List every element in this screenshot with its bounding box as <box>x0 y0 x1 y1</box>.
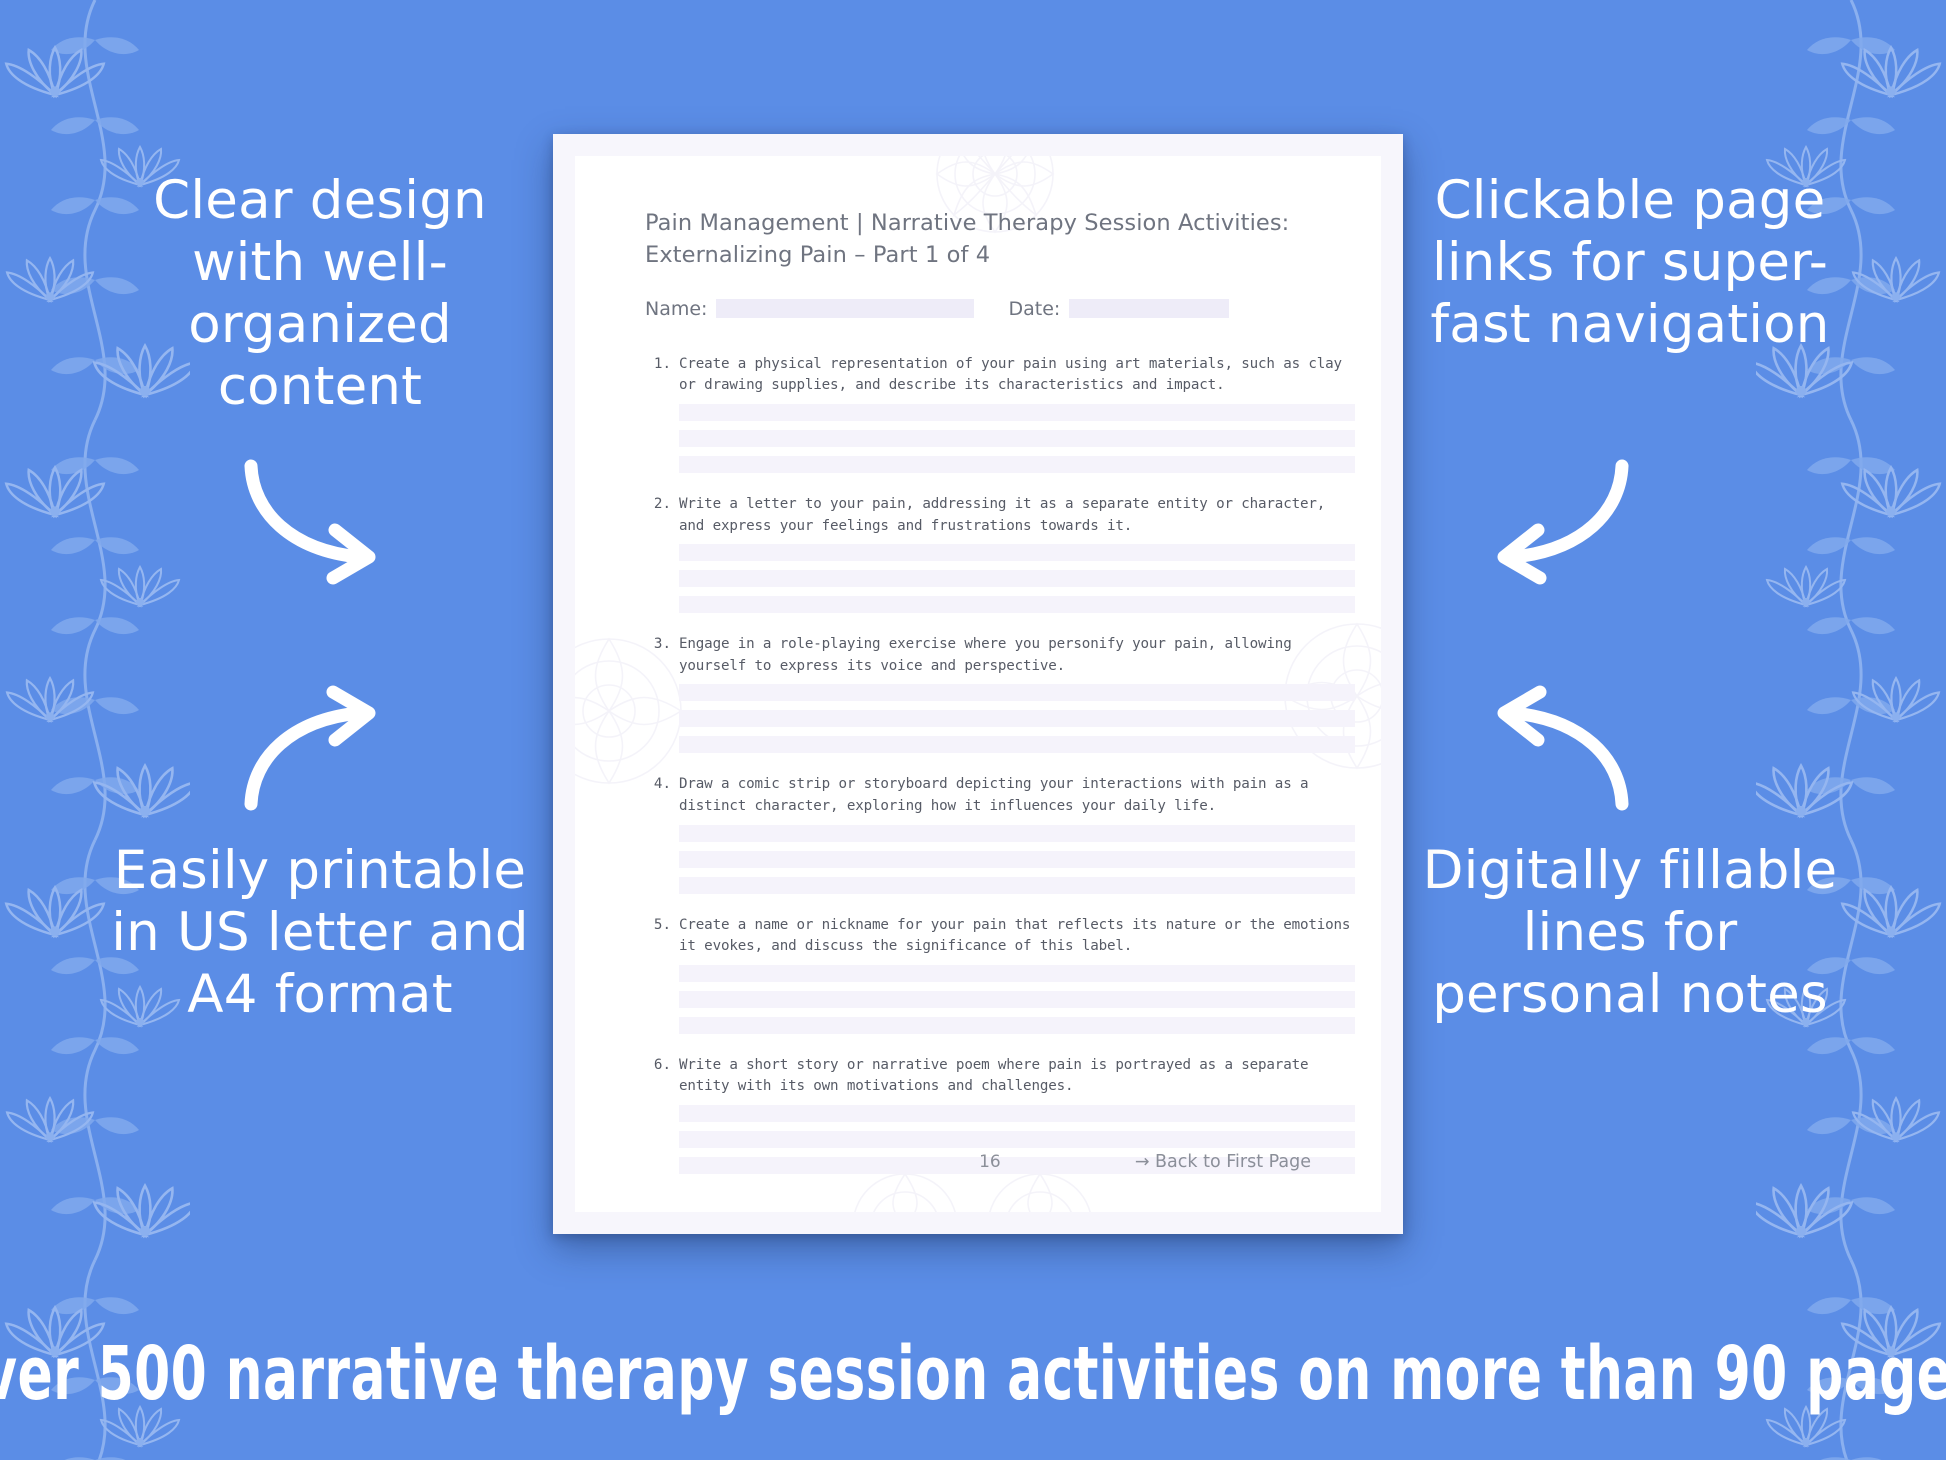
worksheet-content-area: Pain Management | Narrative Therapy Sess… <box>575 156 1381 1212</box>
promo-graphic: Clear design with well-organized content… <box>0 0 1946 1460</box>
answer-line[interactable] <box>679 456 1355 473</box>
page-number: 16 <box>645 1152 1135 1172</box>
activity-item: 4.Draw a comic strip or storyboard depic… <box>645 774 1355 902</box>
answer-line[interactable] <box>679 825 1355 842</box>
activity-body: Write a letter to your pain, addressing … <box>679 494 1355 622</box>
activity-body: Create a physical representation of your… <box>679 354 1355 482</box>
worksheet-footer: 16 → Back to First Page <box>645 1152 1311 1172</box>
banner-headline: Over 500 narrative therapy session activ… <box>0 1331 1946 1417</box>
worksheet-page: Pain Management | Narrative Therapy Sess… <box>553 134 1403 1234</box>
arrow-bottom-left-icon <box>243 690 403 810</box>
activity-answer-lines <box>679 965 1355 1034</box>
promo-text-clear-design: Clear design with well-organized content <box>110 170 530 418</box>
activity-item: 3.Engage in a role-playing exercise wher… <box>645 634 1355 762</box>
answer-line[interactable] <box>679 1131 1355 1148</box>
answer-line[interactable] <box>679 570 1355 587</box>
activity-item: 2.Write a letter to your pain, addressin… <box>645 494 1355 622</box>
activity-answer-lines <box>679 544 1355 613</box>
activity-text: Write a letter to your pain, addressing … <box>679 494 1355 537</box>
activity-number: 4. <box>645 774 679 902</box>
activity-text: Create a physical representation of your… <box>679 354 1355 397</box>
answer-line[interactable] <box>679 736 1355 753</box>
answer-line[interactable] <box>679 877 1355 894</box>
answer-line[interactable] <box>679 430 1355 447</box>
answer-line[interactable] <box>679 991 1355 1008</box>
activity-text: Draw a comic strip or storyboard depicti… <box>679 774 1355 817</box>
bottom-banner: Over 500 narrative therapy session activ… <box>0 1288 1946 1460</box>
back-to-first-page-link[interactable]: → Back to First Page <box>1135 1152 1311 1172</box>
arrow-top-left-icon <box>243 460 403 580</box>
answer-line[interactable] <box>679 965 1355 982</box>
answer-line[interactable] <box>679 1017 1355 1034</box>
worksheet-body: Pain Management | Narrative Therapy Sess… <box>645 208 1355 1195</box>
date-input[interactable] <box>1069 299 1229 318</box>
answer-line[interactable] <box>679 684 1355 701</box>
answer-line[interactable] <box>679 710 1355 727</box>
activity-number: 2. <box>645 494 679 622</box>
activity-text: Write a short story or narrative poem wh… <box>679 1055 1355 1098</box>
activity-text: Create a name or nickname for your pain … <box>679 915 1355 958</box>
activity-number: 1. <box>645 354 679 482</box>
promo-text-printable: Easily printable in US letter and A4 for… <box>110 840 530 1026</box>
answer-line[interactable] <box>679 1105 1355 1122</box>
promo-text-clickable-links: Clickable page links for super-fast navi… <box>1420 170 1840 356</box>
date-label: Date: <box>1008 298 1060 320</box>
activity-answer-lines <box>679 404 1355 473</box>
activity-number: 5. <box>645 915 679 1043</box>
name-input[interactable] <box>716 299 974 318</box>
activity-text: Engage in a role-playing exercise where … <box>679 634 1355 677</box>
activity-body: Draw a comic strip or storyboard depicti… <box>679 774 1355 902</box>
activity-body: Create a name or nickname for your pain … <box>679 915 1355 1043</box>
answer-line[interactable] <box>679 544 1355 561</box>
arrow-top-right-icon <box>1470 460 1630 580</box>
activity-body: Engage in a role-playing exercise where … <box>679 634 1355 762</box>
promo-text-fillable-lines: Digitally fillable lines for personal no… <box>1420 840 1840 1026</box>
worksheet-title: Pain Management | Narrative Therapy Sess… <box>645 208 1355 272</box>
answer-line[interactable] <box>679 404 1355 421</box>
answer-line[interactable] <box>679 851 1355 868</box>
activity-answer-lines <box>679 684 1355 753</box>
answer-line[interactable] <box>679 596 1355 613</box>
activity-item: 5.Create a name or nickname for your pai… <box>645 915 1355 1043</box>
activity-item: 1.Create a physical representation of yo… <box>645 354 1355 482</box>
name-label: Name: <box>645 298 707 320</box>
activity-number: 3. <box>645 634 679 762</box>
activity-answer-lines <box>679 825 1355 894</box>
worksheet-meta-row: Name: Date: <box>645 298 1355 320</box>
arrow-bottom-right-icon <box>1470 690 1630 810</box>
activity-list: 1.Create a physical representation of yo… <box>645 354 1355 1183</box>
